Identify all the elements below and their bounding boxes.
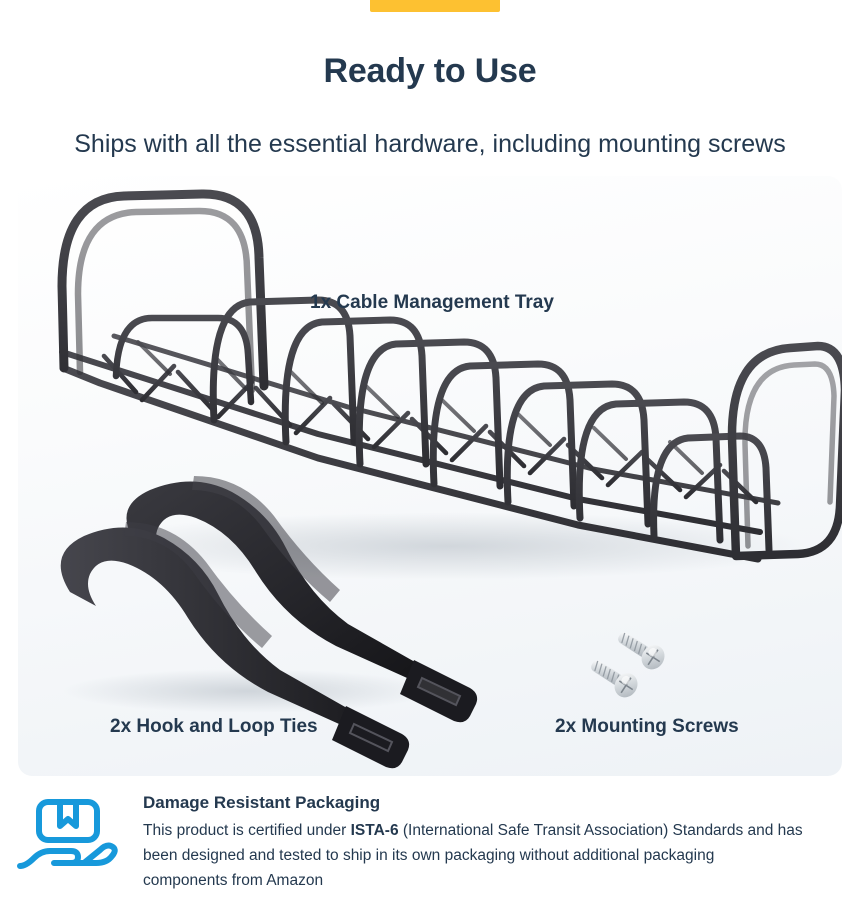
screw-lower (586, 653, 642, 702)
ties-label: 2x Hook and Loop Ties (110, 716, 318, 738)
packaging-body-part1: This product is certified under (143, 822, 351, 839)
tray-label: 1x Cable Management Tray (310, 292, 554, 314)
product-image-stage: 1x Cable Management Tray 2x Hook and Loo… (18, 176, 842, 776)
packaging-heading: Damage Resistant Packaging (143, 793, 380, 813)
screw-upper (613, 625, 669, 674)
package-in-hand-icon (14, 796, 124, 874)
packaging-info-section: Damage Resistant Packaging This product … (0, 788, 860, 900)
top-accent-bar (370, 0, 500, 12)
screws-label: 2x Mounting Screws (555, 716, 739, 738)
page-subtitle: Ships with all the essential hardware, i… (0, 130, 860, 159)
page-title: Ready to Use (0, 52, 860, 91)
mounting-screws-image (18, 176, 842, 776)
packaging-body: This product is certified under ISTA-6 (… (143, 818, 803, 893)
packaging-standard-name: ISTA-6 (351, 822, 399, 839)
